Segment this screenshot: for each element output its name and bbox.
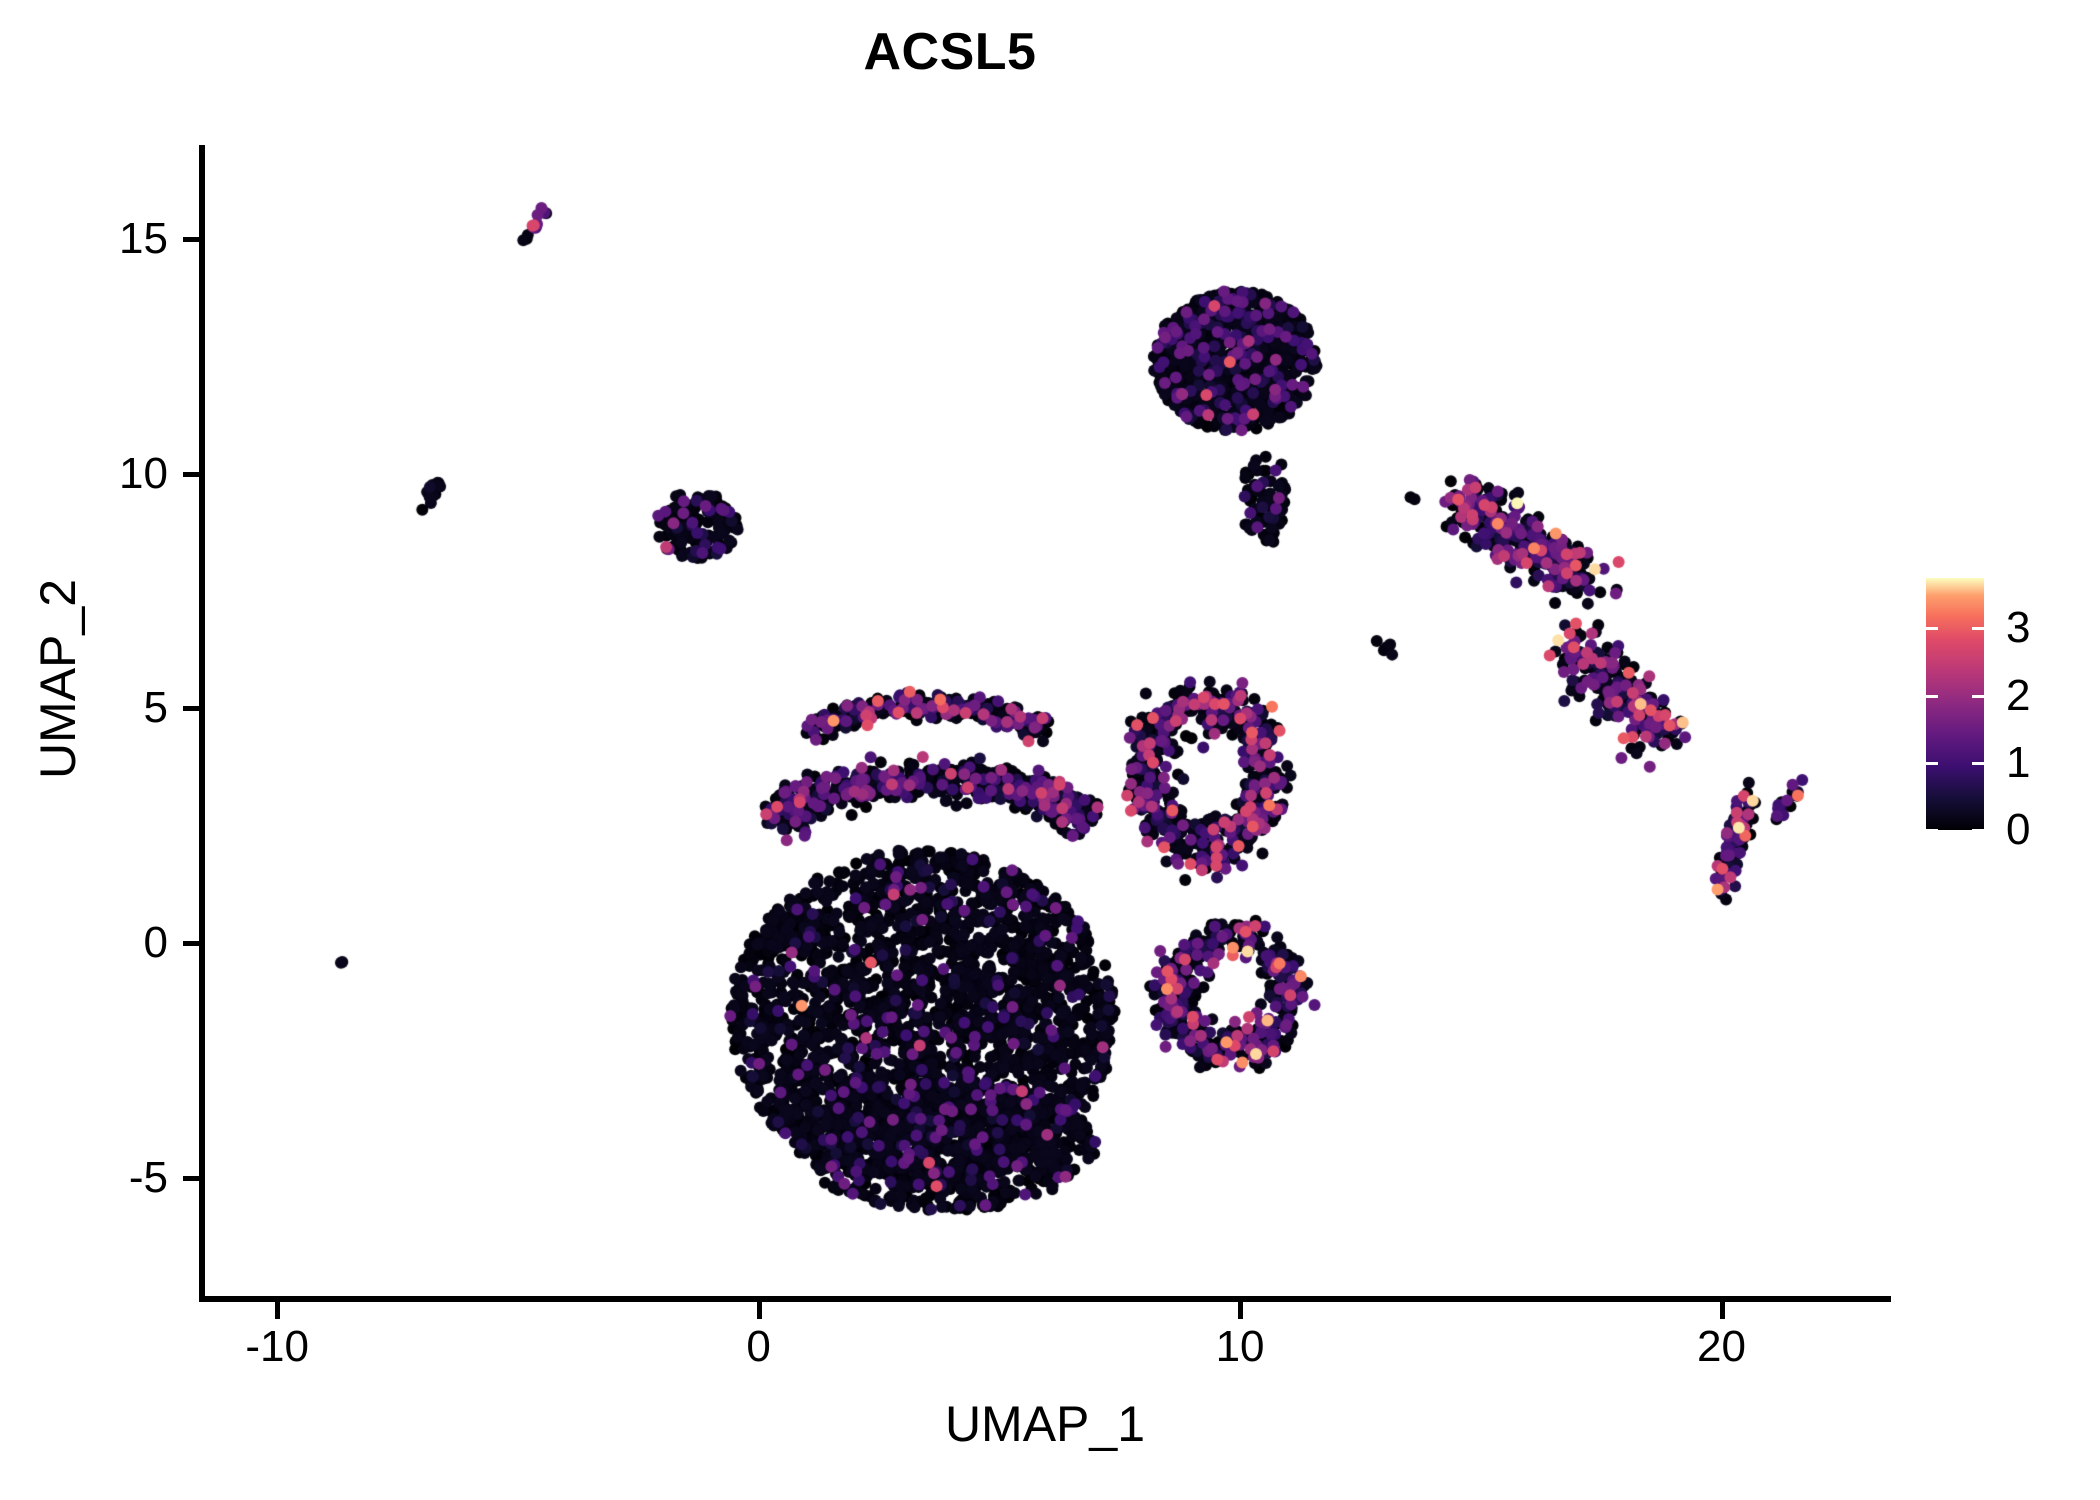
colorbar-tick — [1972, 627, 1984, 630]
colorbar-gradient — [1926, 578, 1984, 830]
y-tick-mark — [183, 237, 199, 242]
colorbar-legend — [1926, 578, 1984, 830]
y-tick-mark — [183, 941, 199, 946]
x-tick-mark — [1720, 1302, 1725, 1319]
x-tick-label: -10 — [245, 1322, 309, 1372]
colorbar-tick — [1926, 627, 1938, 630]
page-title: ACSL5 — [0, 22, 1900, 82]
y-axis-label: UMAP_2 — [29, 329, 87, 1029]
y-tick-label: -5 — [0, 1153, 168, 1203]
x-tick-mark — [1238, 1302, 1243, 1319]
colorbar-tick — [1926, 829, 1938, 832]
colorbar-tick — [1926, 695, 1938, 698]
colorbar-tick — [1972, 762, 1984, 765]
x-tick-mark — [275, 1302, 280, 1319]
x-tick-label: 20 — [1697, 1322, 1746, 1372]
y-tick-mark — [183, 1176, 199, 1181]
y-tick-mark — [183, 706, 199, 711]
x-axis-line — [199, 1296, 1891, 1302]
y-tick-mark — [183, 472, 199, 477]
plot-panel — [205, 145, 1890, 1300]
colorbar-tick-label: 1 — [2006, 738, 2030, 788]
colorbar-tick — [1926, 762, 1938, 765]
x-tick-mark — [757, 1302, 762, 1319]
colorbar-tick-label: 2 — [2006, 671, 2030, 721]
colorbar-tick-label: 0 — [2006, 805, 2030, 855]
x-tick-label: 0 — [746, 1322, 770, 1372]
y-tick-label: 15 — [0, 214, 168, 264]
colorbar-tick — [1972, 829, 1984, 832]
colorbar-tick — [1972, 695, 1984, 698]
scatter-points-layer — [205, 145, 1890, 1300]
colorbar-tick-label: 3 — [2006, 603, 2030, 653]
umap-feature-plot: ACSL5 -5051015 -1001020 UMAP_1 UMAP_2 01… — [0, 0, 2100, 1500]
x-axis-label: UMAP_1 — [199, 1395, 1891, 1453]
x-tick-label: 10 — [1216, 1322, 1265, 1372]
y-axis-line — [199, 145, 205, 1302]
